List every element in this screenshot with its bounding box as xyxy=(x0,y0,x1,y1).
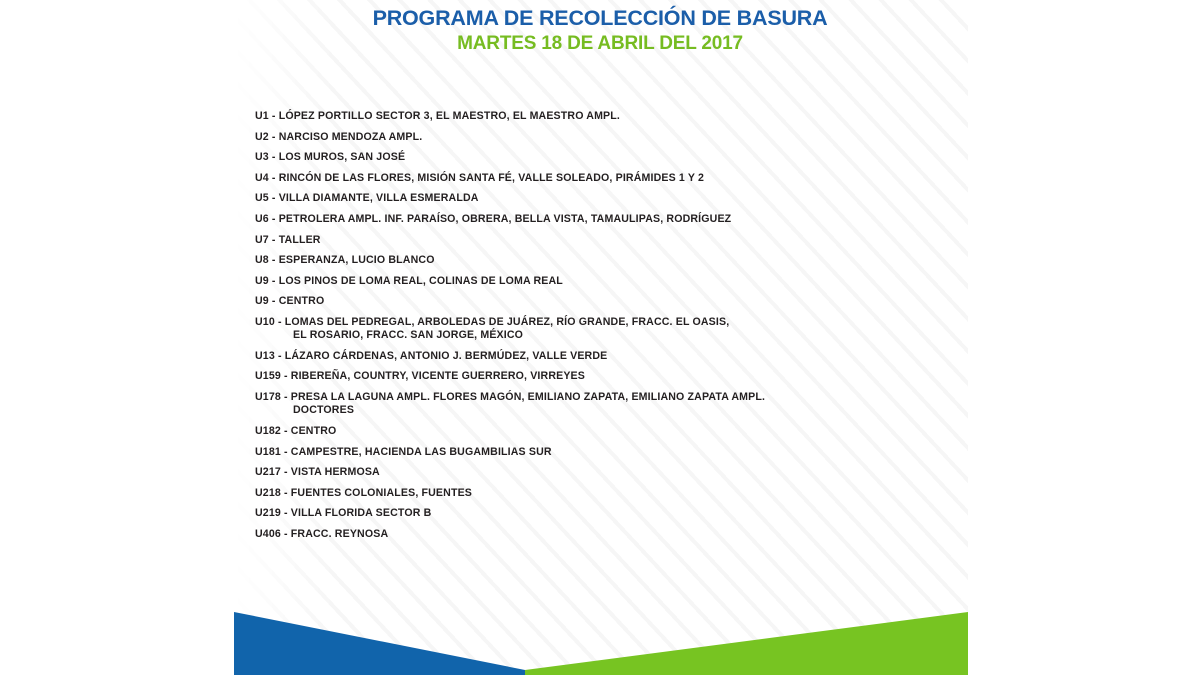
route-text: U178 - PRESA LA LAGUNA AMPL. FLORES MAGÓ… xyxy=(255,391,765,403)
list-item: U182 - CENTRO xyxy=(255,421,955,442)
route-text: U13 - LÁZARO CÁRDENAS, ANTONIO J. BERMÚD… xyxy=(255,350,607,362)
page-title: PROGRAMA DE RECOLECCIÓN DE BASURA xyxy=(232,6,968,31)
list-item: U7 - TALLER xyxy=(255,230,955,251)
route-text: U182 - CENTRO xyxy=(255,425,336,437)
list-item: U6 - PETROLERA AMPL. INF. PARAÍSO, OBRER… xyxy=(255,209,955,230)
page-subtitle-date: MARTES 18 DE ABRIL DEL 2017 xyxy=(232,33,968,55)
route-text-continued: EL ROSARIO, FRACC. SAN JORGE, MÉXICO xyxy=(255,329,955,342)
route-text: U406 - FRACC. REYNOSA xyxy=(255,528,388,540)
list-item: U2 - NARCISO MENDOZA AMPL. xyxy=(255,127,955,148)
list-item: U3 - LOS MUROS, SAN JOSÉ xyxy=(255,147,955,168)
route-text: U5 - VILLA DIAMANTE, VILLA ESMERALDA xyxy=(255,192,479,204)
route-text-continued: DOCTORES xyxy=(255,404,955,417)
list-item: U4 - RINCÓN DE LAS FLORES, MISIÓN SANTA … xyxy=(255,168,955,189)
route-text: U219 - VILLA FLORIDA SECTOR B xyxy=(255,507,431,519)
route-text: U10 - LOMAS DEL PEDREGAL, ARBOLEDAS DE J… xyxy=(255,316,729,328)
list-item: U406 - FRACC. REYNOSA xyxy=(255,524,955,545)
list-item: U217 - VISTA HERMOSA xyxy=(255,462,955,483)
list-item: U8 - ESPERANZA, LUCIO BLANCO xyxy=(255,250,955,271)
route-text: U3 - LOS MUROS, SAN JOSÉ xyxy=(255,151,405,163)
poster-header: PROGRAMA DE RECOLECCIÓN DE BASURA MARTES… xyxy=(232,6,968,55)
list-item: U10 - LOMAS DEL PEDREGAL, ARBOLEDAS DE J… xyxy=(255,312,955,346)
route-text: U6 - PETROLERA AMPL. INF. PARAÍSO, OBRER… xyxy=(255,213,731,225)
list-item: U5 - VILLA DIAMANTE, VILLA ESMERALDA xyxy=(255,188,955,209)
route-list: U1 - LÓPEZ PORTILLO SECTOR 3, EL MAESTRO… xyxy=(255,106,955,545)
list-item: U13 - LÁZARO CÁRDENAS, ANTONIO J. BERMÚD… xyxy=(255,346,955,367)
route-text: U8 - ESPERANZA, LUCIO BLANCO xyxy=(255,254,435,266)
list-item: U218 - FUENTES COLONIALES, FUENTES xyxy=(255,483,955,504)
route-text: U1 - LÓPEZ PORTILLO SECTOR 3, EL MAESTRO… xyxy=(255,110,620,122)
list-item: U9 - CENTRO xyxy=(255,291,955,312)
list-item: U178 - PRESA LA LAGUNA AMPL. FLORES MAGÓ… xyxy=(255,387,955,421)
list-item: U159 - RIBEREÑA, COUNTRY, VICENTE GUERRE… xyxy=(255,366,955,387)
route-text: U159 - RIBEREÑA, COUNTRY, VICENTE GUERRE… xyxy=(255,370,585,382)
route-text: U9 - CENTRO xyxy=(255,295,324,307)
route-text: U217 - VISTA HERMOSA xyxy=(255,466,380,478)
route-text: U9 - LOS PINOS DE LOMA REAL, COLINAS DE … xyxy=(255,275,563,287)
route-text: U181 - CAMPESTRE, HACIENDA LAS BUGAMBILI… xyxy=(255,446,552,458)
route-text: U2 - NARCISO MENDOZA AMPL. xyxy=(255,131,422,143)
list-item: U181 - CAMPESTRE, HACIENDA LAS BUGAMBILI… xyxy=(255,442,955,463)
route-text: U218 - FUENTES COLONIALES, FUENTES xyxy=(255,487,472,499)
route-text: U7 - TALLER xyxy=(255,234,321,246)
list-item: U9 - LOS PINOS DE LOMA REAL, COLINAS DE … xyxy=(255,271,955,292)
route-text: U4 - RINCÓN DE LAS FLORES, MISIÓN SANTA … xyxy=(255,172,704,184)
slide-poster: PROGRAMA DE RECOLECCIÓN DE BASURA MARTES… xyxy=(0,0,1200,675)
list-item: U1 - LÓPEZ PORTILLO SECTOR 3, EL MAESTRO… xyxy=(255,106,955,127)
list-item: U219 - VILLA FLORIDA SECTOR B xyxy=(255,503,955,524)
